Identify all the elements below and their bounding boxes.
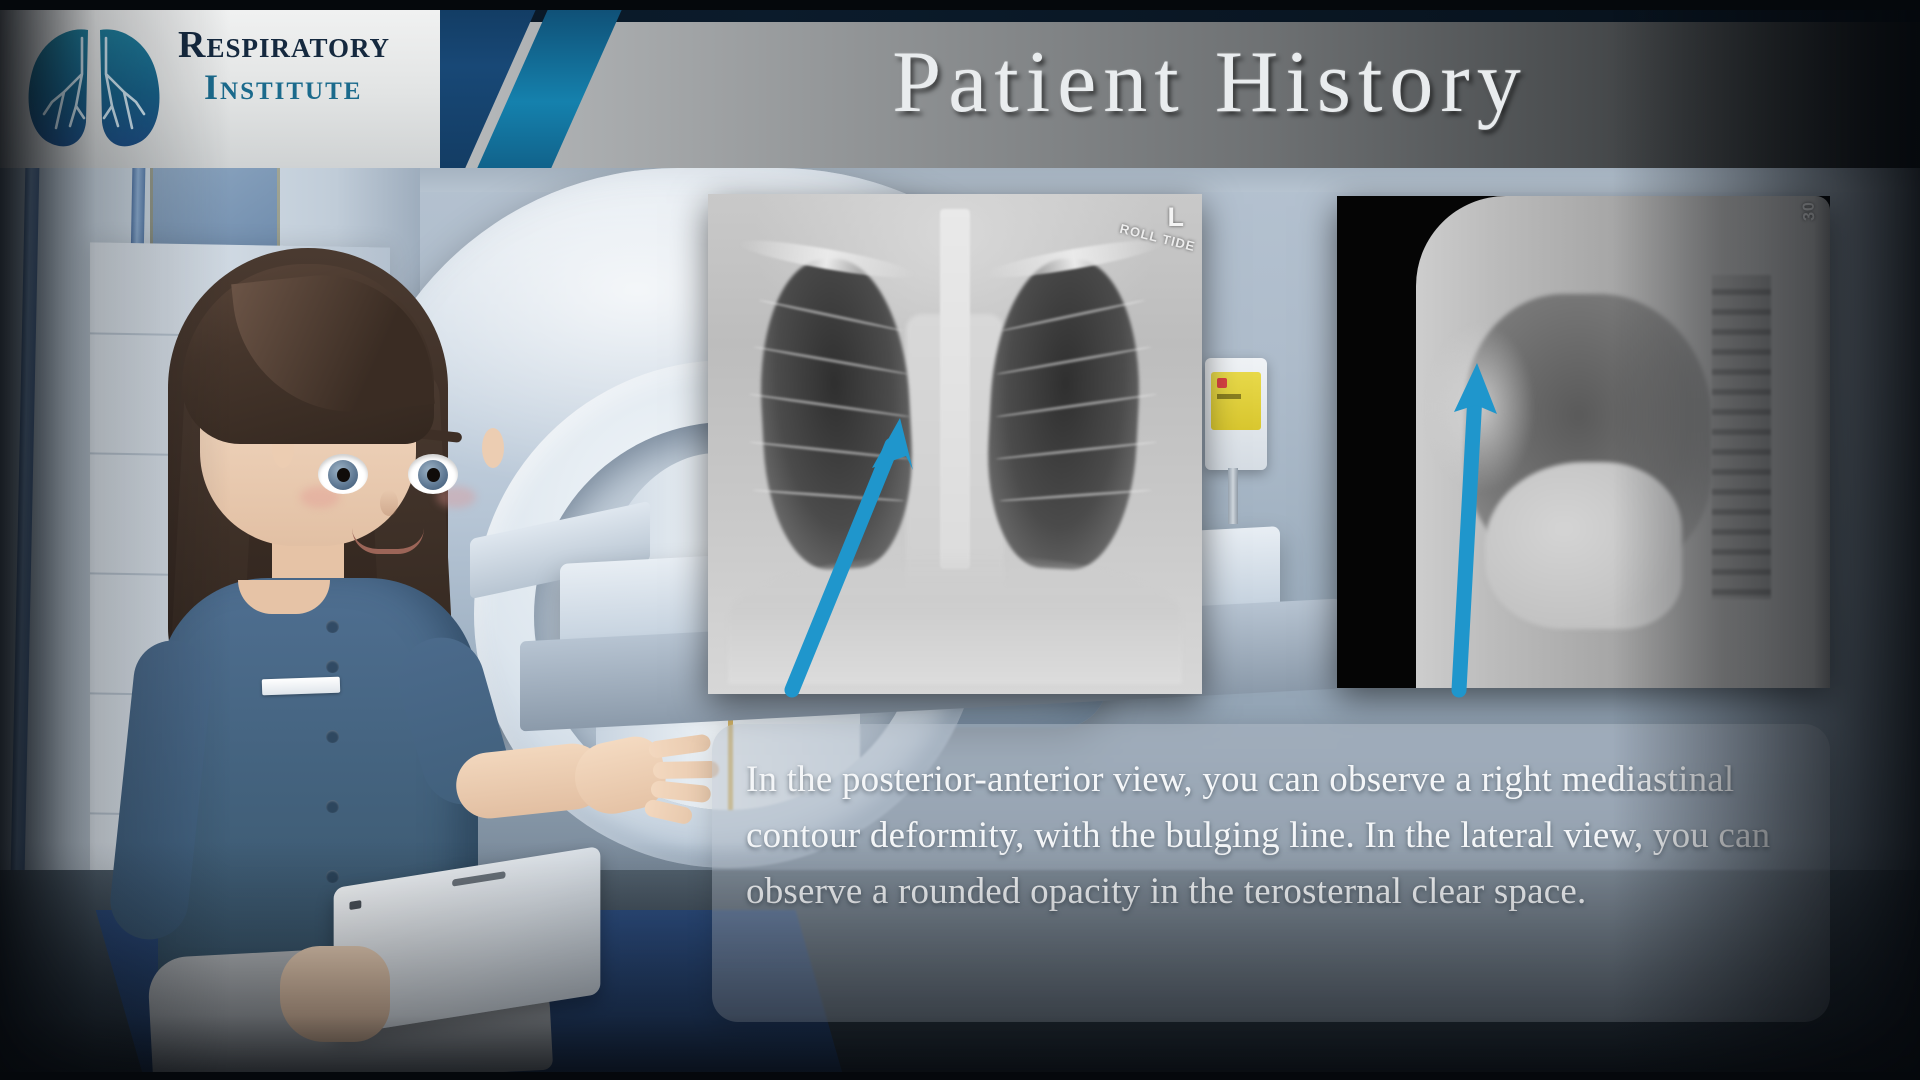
brand-logo-plate: Respiratory Institute: [0, 0, 440, 168]
annotation-arrow-pa: [792, 418, 913, 690]
bottom-frame-band: [0, 1072, 1920, 1080]
lungs-icon: [14, 14, 174, 154]
page-title: Patient History: [560, 12, 1860, 152]
caption-panel: In the posterior-anterior view, you can …: [712, 724, 1830, 1022]
annotation-arrow-lateral: [1454, 363, 1497, 690]
brand-line-1: Respiratory: [178, 26, 438, 64]
top-frame-band: [0, 0, 1920, 10]
brand-wordmark: Respiratory Institute: [178, 26, 438, 111]
caption-text: In the posterior-anterior view, you can …: [746, 752, 1796, 921]
slide-stage: L ROLL TIDE 30 In the posterior-anterior…: [0, 0, 1920, 1080]
slide-header: Respiratory Institute Patient History: [0, 0, 1920, 168]
brand-line-2: Institute: [178, 64, 438, 111]
